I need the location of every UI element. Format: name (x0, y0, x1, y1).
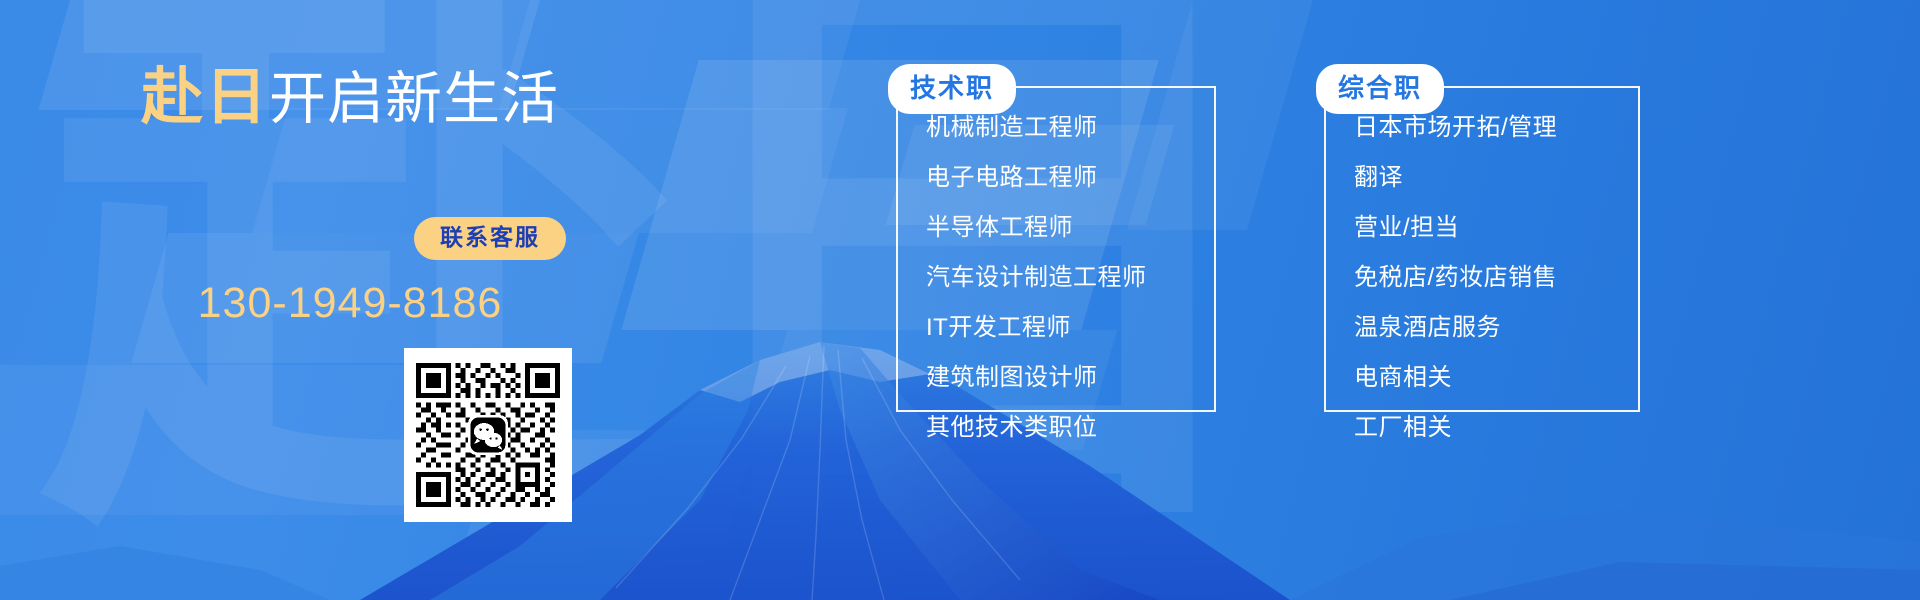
list-item[interactable]: 翻译 (1354, 166, 1626, 190)
list-item[interactable]: 半导体工程师 (926, 216, 1202, 240)
phone-number[interactable]: 130-1949-8186 (0, 279, 700, 328)
list-item[interactable]: 其他技术类职位 (926, 416, 1202, 440)
headline-highlight: 赴日 (141, 63, 269, 132)
category-box-technical: 技术职 机械制造工程师 电子电路工程师 半导体工程师 汽车设计制造工程师 IT开… (896, 64, 1216, 412)
list-item[interactable]: 汽车设计制造工程师 (926, 266, 1202, 290)
qr-code-image (416, 362, 560, 508)
category-label-general[interactable]: 综合职 (1316, 64, 1444, 114)
job-list-general: 日本市场开拓/管理 翻译 营业/担当 免税店/药妆店销售 温泉酒店服务 电商相关… (1354, 116, 1626, 466)
contact-support-button[interactable]: 联系客服 (414, 217, 566, 260)
list-item[interactable]: 日本市场开拓/管理 (1354, 116, 1626, 140)
headline-rest: 开启新生活 (269, 67, 559, 131)
job-list-technical: 机械制造工程师 电子电路工程师 半导体工程师 汽车设计制造工程师 IT开发工程师… (926, 116, 1202, 466)
list-item[interactable]: 电子电路工程师 (926, 166, 1202, 190)
page-title: 赴日开启新生活 (0, 46, 700, 136)
promo-panel: 赴日开启新生活 联系客服 130-1949-8186 (0, 0, 700, 600)
list-item[interactable]: 机械制造工程师 (926, 116, 1202, 140)
category-box-general: 综合职 日本市场开拓/管理 翻译 营业/担当 免税店/药妆店销售 温泉酒店服务 … (1324, 64, 1640, 412)
category-label-technical[interactable]: 技术职 (888, 64, 1016, 114)
list-item[interactable]: 建筑制图设计师 (926, 366, 1202, 390)
list-item[interactable]: 温泉酒店服务 (1354, 316, 1626, 340)
list-item[interactable]: 工厂相关 (1354, 416, 1626, 440)
list-item[interactable]: IT开发工程师 (926, 316, 1202, 340)
wechat-qr-code[interactable] (404, 348, 572, 522)
recruitment-banner: 赴日 (0, 0, 1920, 600)
list-item[interactable]: 营业/担当 (1354, 216, 1626, 240)
list-item[interactable]: 电商相关 (1354, 366, 1626, 390)
list-item[interactable]: 免税店/药妆店销售 (1354, 266, 1626, 290)
